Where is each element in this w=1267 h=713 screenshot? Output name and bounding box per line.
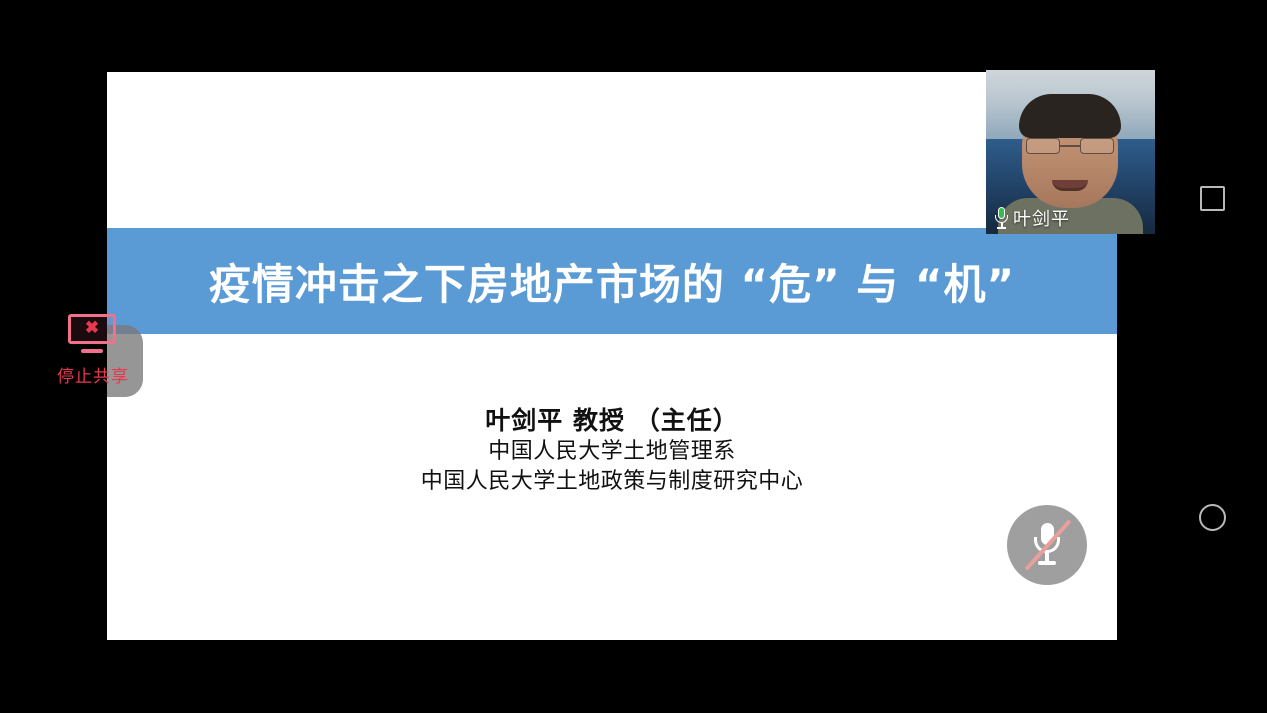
author-affiliation-2: 中国人民大学土地政策与制度研究中心 xyxy=(107,467,1117,497)
participant-mouth xyxy=(1052,180,1088,191)
close-icon: ✖ xyxy=(68,314,116,344)
monitor-stand xyxy=(81,349,103,353)
participant-video-thumbnail[interactable]: 叶剑平 xyxy=(986,70,1155,234)
home-button[interactable] xyxy=(1189,494,1235,540)
glasses-lens-right xyxy=(1080,138,1114,154)
mute-toggle-button[interactable] xyxy=(1007,505,1087,585)
slide-body: 叶剑平 教授 （主任） 中国人民大学土地管理系 中国人民大学土地政策与制度研究中… xyxy=(107,334,1117,640)
mic-base xyxy=(997,227,1006,229)
stop-share-icon: ✖ xyxy=(68,314,116,356)
android-navigation-bar xyxy=(1157,0,1267,713)
circle-icon xyxy=(1199,504,1226,531)
author-name: 叶剑平 教授 （主任） xyxy=(107,404,1117,437)
author-block: 叶剑平 教授 （主任） 中国人民大学土地管理系 中国人民大学土地政策与制度研究中… xyxy=(107,404,1117,497)
slide-title: 疫情冲击之下房地产市场的 “危” 与 “机” xyxy=(209,251,1015,312)
microphone-icon xyxy=(994,207,1009,229)
shared-slide[interactable]: 疫情冲击之下房地产市场的 “危” 与 “机” 叶剑平 教授 （主任） 中国人民大… xyxy=(107,72,1117,640)
recents-button[interactable] xyxy=(1189,175,1235,221)
glasses-icon xyxy=(1026,138,1114,154)
slide-header-area xyxy=(107,72,1117,228)
mic-base xyxy=(1038,561,1056,565)
glasses-lens-left xyxy=(1026,138,1060,154)
stop-share-label: 停止共享 xyxy=(47,362,139,387)
slide-title-band: 疫情冲击之下房地产市场的 “危” 与 “机” xyxy=(107,228,1117,334)
participant-hair xyxy=(1019,94,1121,138)
video-name-overlay: 叶剑平 xyxy=(986,202,1155,234)
square-icon xyxy=(1200,186,1225,211)
participant-name: 叶剑平 xyxy=(1013,205,1070,231)
mic-stem xyxy=(1045,553,1049,561)
device-screen: 疫情冲击之下房地产市场的 “危” 与 “机” 叶剑平 教授 （主任） 中国人民大… xyxy=(0,0,1267,713)
glasses-bridge xyxy=(1060,145,1080,147)
stop-share-button[interactable]: ✖ 停止共享 xyxy=(47,314,139,392)
mic-arc xyxy=(995,215,1008,223)
author-affiliation-1: 中国人民大学土地管理系 xyxy=(107,437,1117,467)
